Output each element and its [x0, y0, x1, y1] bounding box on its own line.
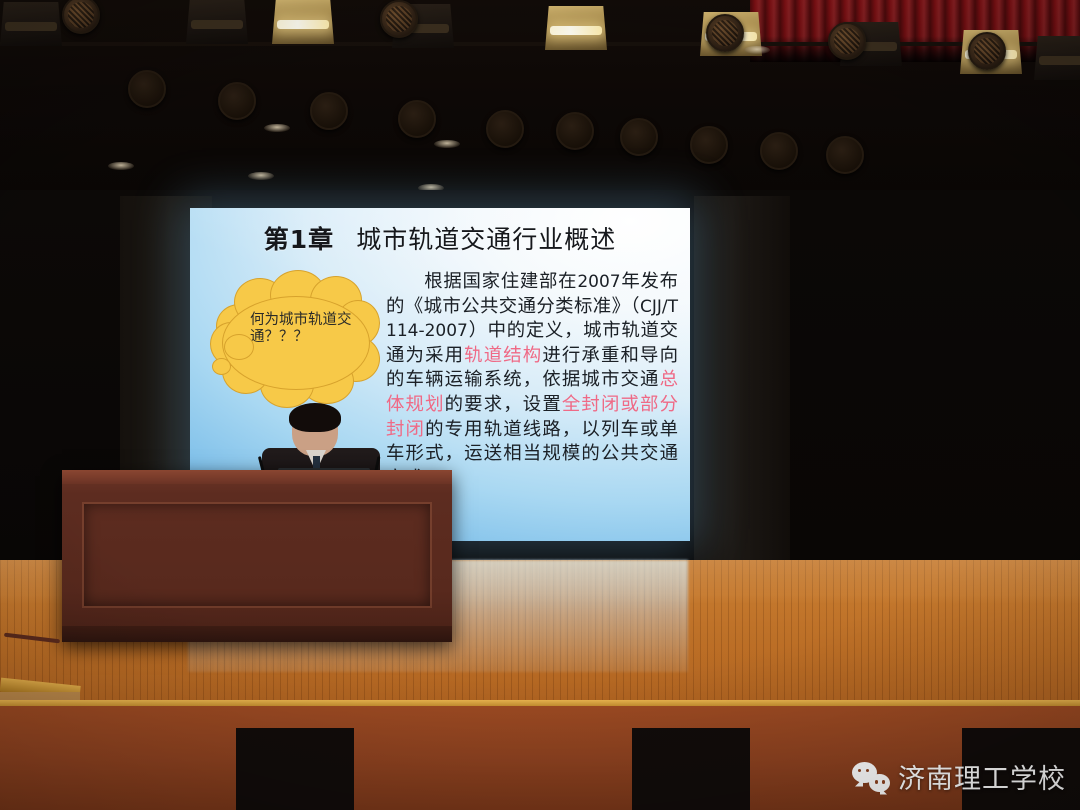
par-can-light-icon: [968, 32, 1006, 70]
slide-body-segment: 的要求，设置: [445, 394, 562, 415]
thought-bubble-text: 何为城市轨道交通？？？: [250, 312, 368, 346]
ceiling-downlight-icon: [108, 162, 134, 170]
ceiling-downlight-icon: [434, 140, 460, 148]
par-can-light-icon: [828, 22, 866, 60]
slide-body-segment: 2007: [577, 272, 620, 292]
slide-body-text: 根据国家住建部在2007年发布的《城市公共交通分类标准》（CJJ/T 114-2…: [386, 270, 678, 491]
par-can-light-icon: [398, 100, 436, 138]
lecture-podium: [62, 470, 452, 642]
lecture-hall-photo: 第1章城市轨道交通行业概述 何为城市轨道交通？？？ 根据国家住建部在2007年发…: [0, 0, 1080, 810]
ceiling-downlight-icon: [264, 124, 290, 132]
par-can-light-icon: [826, 136, 864, 174]
watermark-account-name: 济南理工学校: [898, 757, 1066, 796]
par-can-light-icon: [620, 118, 658, 156]
watermark: 济南理工学校: [852, 757, 1066, 796]
par-can-light-icon: [486, 110, 524, 148]
podium-base-molding: [62, 626, 452, 642]
par-can-light-icon: [218, 82, 256, 120]
wall-dark-right: [790, 190, 1080, 572]
slide-title: 第1章城市轨道交通行业概述: [190, 220, 690, 256]
par-can-light-icon: [690, 126, 728, 164]
stage-light-fresnel-icon: [186, 0, 248, 44]
slide-body-segment: 轨道结构: [464, 345, 542, 366]
wechat-logo-icon: [852, 762, 890, 792]
apron-vent-panel: [632, 728, 750, 810]
red-stage-curtain: [750, 0, 1080, 62]
par-can-light-icon: [556, 112, 594, 150]
apron-vent-panel: [236, 728, 354, 810]
thought-bubble-tail-large: [224, 334, 254, 360]
par-can-light-icon: [310, 92, 348, 130]
slide-body-segment: 根据国家住建部在: [386, 271, 577, 292]
stage-light-fresnel-icon: [1034, 36, 1080, 80]
lighting-truss-bar: [0, 42, 1080, 46]
podium-top-surface: [62, 470, 452, 484]
stage-light-fresnel-icon: [0, 2, 62, 46]
par-can-light-icon: [380, 0, 418, 38]
podium-front-panel: [82, 502, 432, 608]
stage-light-fresnel-icon: [545, 6, 607, 50]
speaker-hair: [289, 403, 341, 432]
thought-bubble-tail-small: [212, 358, 231, 375]
wall-panel-right: [694, 196, 790, 568]
slide-title-chapter: 第1章: [264, 225, 334, 254]
ceiling-downlight-icon: [248, 172, 274, 180]
par-can-light-icon: [760, 132, 798, 170]
par-can-light-icon: [128, 70, 166, 108]
par-can-light-icon: [706, 14, 744, 52]
slide-title-main: 城市轨道交通行业概述: [356, 225, 616, 254]
ceiling-downlight-icon: [744, 46, 770, 54]
stage-light-fresnel-icon: [272, 0, 334, 44]
